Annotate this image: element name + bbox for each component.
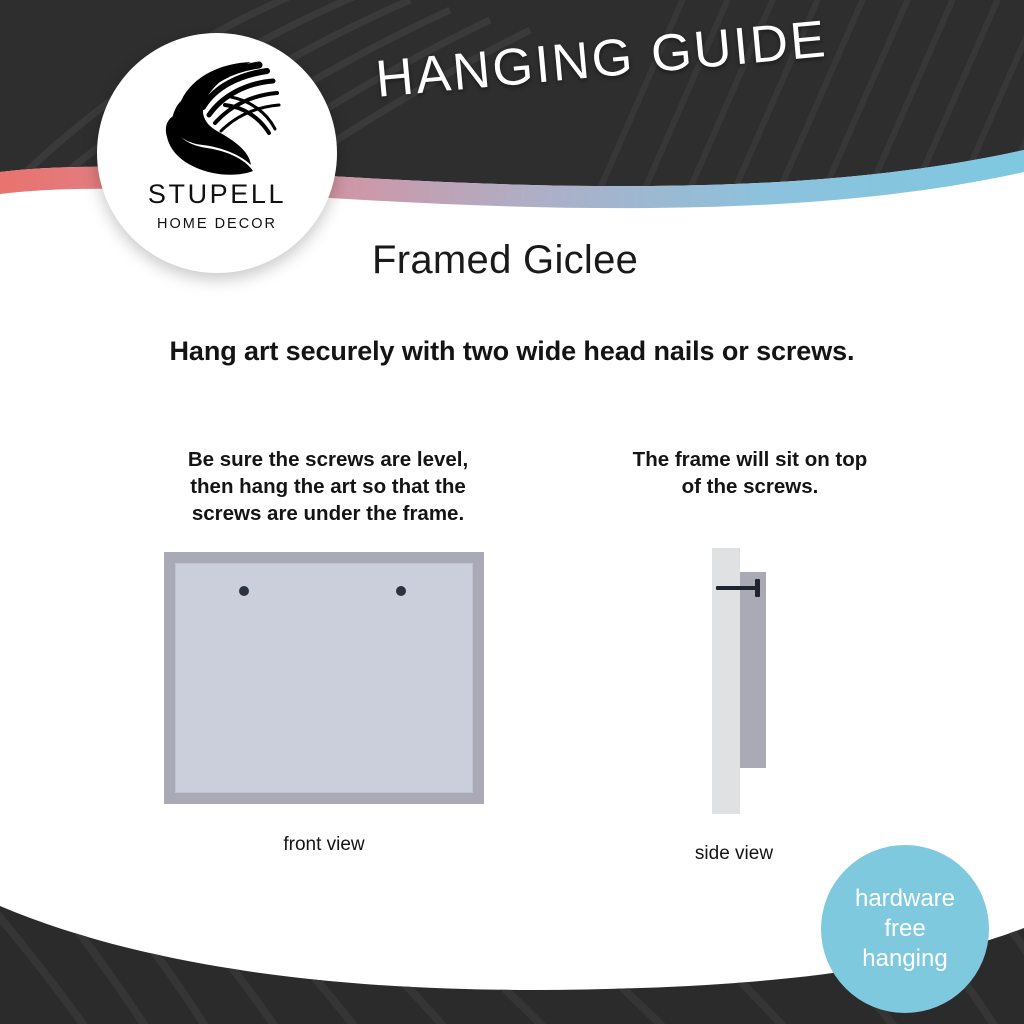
side-view-label: side view (650, 843, 818, 865)
lede-instruction: Hang art securely with two wide head nai… (0, 336, 1024, 367)
front-view-caption-line-2: then hang the art so that the (150, 473, 506, 500)
brand-name: STUPELL (148, 181, 286, 208)
side-view-frame (740, 572, 766, 768)
brand-subtitle: HOME DECOR (157, 217, 277, 232)
front-view-artwork-mat (175, 563, 473, 793)
screw-dot-right (396, 586, 406, 596)
front-view-diagram (164, 552, 484, 804)
front-view-label: front view (164, 834, 484, 856)
hardware-free-badge: hardware free hanging (821, 845, 989, 1013)
side-view-caption-line-2: of the screws. (588, 473, 912, 500)
front-view-caption: Be sure the screws are level, then hang … (150, 446, 506, 527)
front-view-caption-line-1: Be sure the screws are level, (150, 446, 506, 473)
badge-line-2: free (884, 914, 925, 944)
stupell-swoosh-icon (151, 59, 283, 177)
badge-line-3: hanging (862, 944, 947, 974)
side-view-caption-line-1: The frame will sit on top (588, 446, 912, 473)
brand-logo-badge: STUPELL HOME DECOR (97, 33, 337, 273)
front-view-caption-line-3: screws are under the frame. (150, 500, 506, 527)
side-view-caption: The frame will sit on top of the screws. (588, 446, 912, 500)
product-type-title: Framed Giclee (372, 238, 638, 283)
screw-dot-left (239, 586, 249, 596)
hanging-guide-page: STUPELL HOME DECOR HANGING GUIDE Framed … (0, 0, 1024, 1024)
nail-head-icon (755, 579, 760, 597)
page-title: HANGING GUIDE (373, 5, 876, 110)
badge-line-1: hardware (855, 884, 955, 914)
nail-shaft-icon (716, 586, 759, 590)
